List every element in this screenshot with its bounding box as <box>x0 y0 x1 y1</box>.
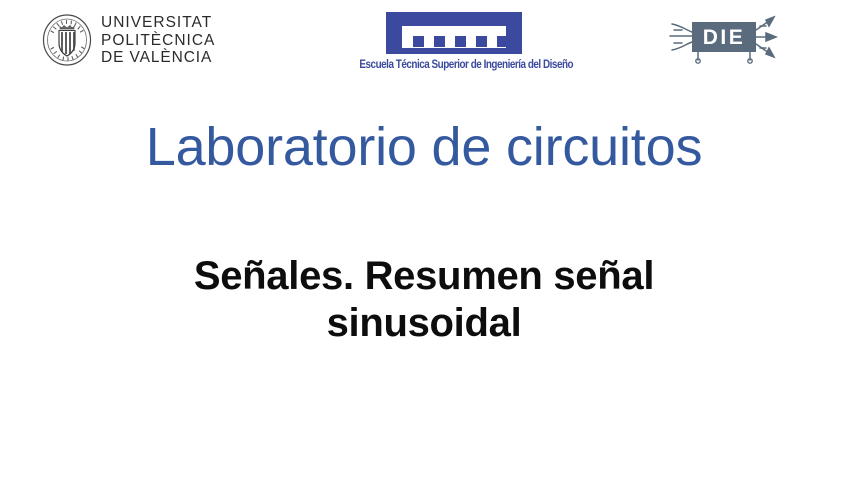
slide-subtitle: Señales. Resumen señal sinusoidal <box>124 253 724 347</box>
die-logo: DIE <box>668 10 780 66</box>
upv-wordmark-line-1: UNIVERSITAT <box>101 14 215 32</box>
slide-subtitle-line-1: Señales. Resumen señal <box>124 253 724 300</box>
upv-wordmark-line-2: POLITÈCNICA <box>101 32 215 50</box>
logo-header-band: UNIVERSITAT POLITÈCNICA DE VALÈNCIA <box>0 0 848 95</box>
etsid-caption: Escuela Técnica Superior de Ingeniería d… <box>359 59 548 71</box>
upv-logo: UNIVERSITAT POLITÈCNICA DE VALÈNCIA <box>42 14 215 67</box>
presentation-slide: UNIVERSITAT POLITÈCNICA DE VALÈNCIA <box>0 0 848 477</box>
upv-wordmark: UNIVERSITAT POLITÈCNICA DE VALÈNCIA <box>101 14 215 67</box>
upv-seal-icon <box>42 14 92 66</box>
etsid-logo: Escuela Técnica Superior de Ingeniería d… <box>344 10 564 71</box>
die-label: DIE <box>703 26 746 49</box>
upv-wordmark-line-3: DE VALÈNCIA <box>101 49 215 67</box>
slide-title: Laboratorio de circuitos <box>0 117 848 177</box>
etsid-building-icon <box>344 10 564 56</box>
slide-subtitle-line-2: sinusoidal <box>124 300 724 347</box>
die-chip-icon: DIE <box>668 10 780 66</box>
